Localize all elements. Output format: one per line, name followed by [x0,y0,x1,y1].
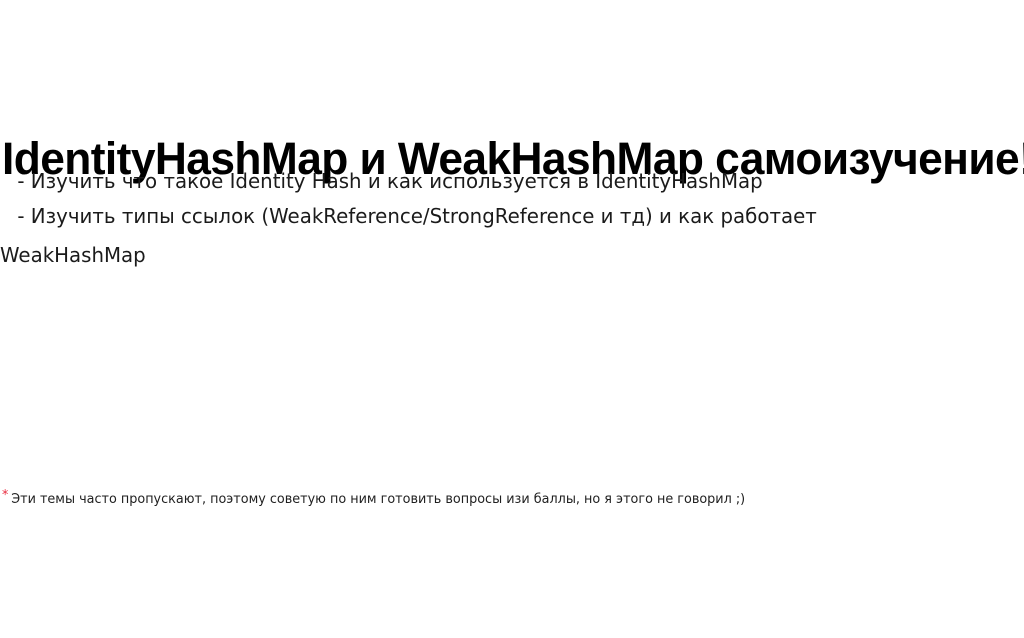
body-content: - Изучить что такое Identity Hash и как … [0,164,1010,273]
bullet-item-2: - Изучить типы ссылок (WeakReference/Str… [0,199,975,234]
slide-canvas: IdentityHashMap и WeakHashMap самоизучен… [0,0,1024,638]
bullet-continuation-line: WeakHashMap [0,238,975,273]
bullet-item-1: - Изучить что такое Identity Hash и как … [0,164,975,199]
footnote-text: Эти темы часто пропускают, поэтому совет… [11,492,745,507]
asterisk-icon: * [2,488,8,503]
footnote: *Эти темы часто пропускают, поэтому сове… [2,489,982,510]
